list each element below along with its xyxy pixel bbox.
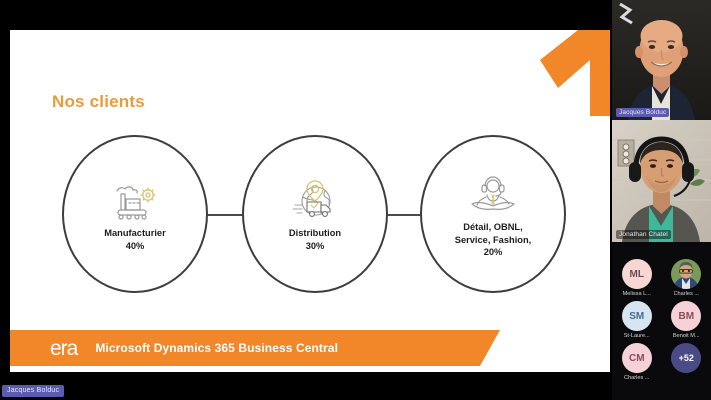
presentation-slide: Nos clients: [10, 30, 610, 372]
video-tile-name: Jacques Bolduc: [616, 108, 669, 117]
avatar[interactable]: CM: [622, 343, 652, 373]
footer-label: Microsoft Dynamics 365 Business Central: [95, 341, 338, 355]
segment-node-distribution: Distribution 30%: [242, 135, 388, 293]
video-tile-jacques-bolduc[interactable]: Jacques Bolduc: [612, 0, 711, 120]
slide-footer: era Microsoft Dynamics 365 Business Cent…: [10, 330, 610, 366]
participant-cell[interactable]: SM St-Laure...: [614, 301, 660, 339]
meeting-window: Nos clients: [0, 0, 711, 400]
video-tile-jonathan-chatel[interactable]: Jonathan Chatel: [612, 120, 711, 242]
avatar[interactable]: SM: [622, 301, 652, 331]
segment-node-manufacturier: Manufacturier 40%: [62, 135, 208, 293]
participant-name: Melissa L...: [623, 291, 651, 297]
participant-cell[interactable]: CM Charles ...: [614, 343, 660, 381]
participant-cell[interactable]: ML Melissa L...: [614, 259, 660, 297]
era-logo-text: era: [50, 338, 77, 359]
avatar[interactable]: BM: [671, 301, 701, 331]
participant-name: Charles ...: [624, 375, 650, 381]
shared-screen-stage[interactable]: Nos clients: [0, 0, 612, 400]
headset-support-agent-icon: [465, 169, 521, 217]
factory-gear-icon: [107, 175, 163, 223]
delivery-truck-globe-pin-icon: [287, 175, 343, 223]
era-logo: era: [50, 338, 77, 359]
participant-rail[interactable]: Jacques Bolduc: [612, 0, 711, 400]
active-speaker-tag: Jacques Bolduc: [2, 385, 64, 397]
client-segments-diagram: Manufacturier 40%: [10, 135, 610, 295]
avatar[interactable]: ML: [622, 259, 652, 289]
participant-cell-overflow[interactable]: +52: [663, 343, 709, 375]
participant-cell[interactable]: Charles ...: [663, 259, 709, 297]
participant-name: Benoit M...: [673, 333, 700, 339]
participant-name: Charles ...: [674, 291, 700, 297]
video-tile-name: Jonathan Chatel: [616, 230, 671, 239]
segment-label: Distribution 30%: [279, 227, 351, 252]
page-title: Nos clients: [52, 92, 145, 112]
overflow-count-badge[interactable]: +52: [671, 343, 701, 373]
participant-avatar-grid: ML Melissa L... Charles .: [612, 255, 711, 395]
avatar[interactable]: [671, 259, 701, 289]
segment-label: Détail, OBNL, Service, Fashion, 20%: [445, 221, 541, 259]
participant-name: St-Laure...: [624, 333, 650, 339]
participant-cell[interactable]: BM Benoit M...: [663, 301, 709, 339]
orange-arrow-decoration: [520, 30, 610, 116]
segment-node-detail-obnl: Détail, OBNL, Service, Fashion, 20%: [420, 135, 566, 293]
segment-label: Manufacturier 40%: [94, 227, 175, 252]
